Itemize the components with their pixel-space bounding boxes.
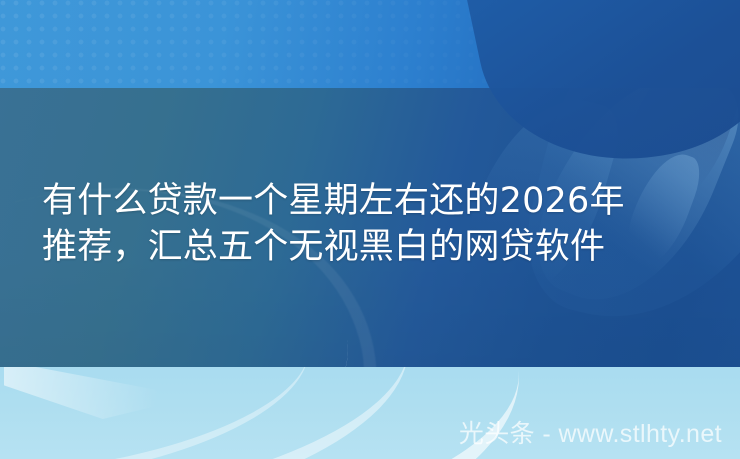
site-watermark: 光头条 - www.stlhty.net bbox=[459, 419, 722, 449]
article-cover-banner: 有什么贷款一个星期左右还的2026年 推荐，汇总五个无视黑白的网贷软件 光头条 … bbox=[0, 0, 740, 459]
bottom-color-band: 光头条 - www.stlhty.net bbox=[0, 367, 740, 459]
page-title-line-1: 有什么贷款一个星期左右还的2026年 bbox=[42, 178, 714, 224]
top-color-band bbox=[0, 0, 740, 88]
bottom-wedge-shape bbox=[4, 367, 194, 419]
page-title: 有什么贷款一个星期左右还的2026年 推荐，汇总五个无视黑白的网贷软件 bbox=[42, 178, 714, 270]
page-title-line-2: 推荐，汇总五个无视黑白的网贷软件 bbox=[42, 224, 714, 270]
